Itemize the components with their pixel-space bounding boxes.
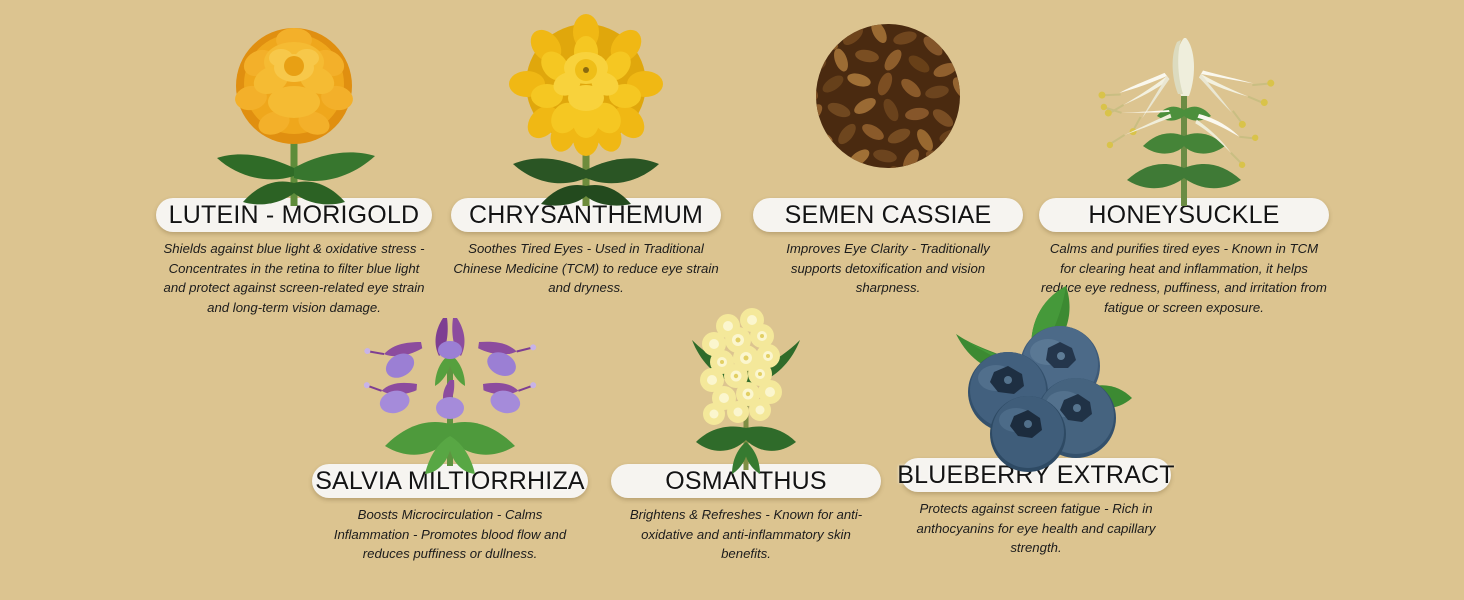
ingredient-description: Soothes Tired Eyes - Used in Traditional…: [453, 239, 719, 298]
ingredient-card-semen-cassiae: SEMEN CASSIAE Improves Eye Clarity - Tra…: [752, 18, 1024, 298]
salvia-flower-icon: [355, 296, 545, 472]
osmanthus-flower-icon: [656, 310, 836, 472]
chrysanthemum-flower-icon: [491, 18, 681, 208]
ingredient-description: Brightens & Refreshes - Known for anti-o…: [617, 505, 875, 564]
ingredient-infographic: LUTEIN - MORIGOLD Shields against blue l…: [0, 0, 1464, 600]
blueberry-fruit-icon: [936, 282, 1136, 472]
ingredient-card-honeysuckle: HONEYSUCKLE Calms and purifies tired eye…: [1038, 18, 1330, 317]
ingredient-description: Boosts Microcirculation - Calms Inflamma…: [328, 505, 572, 564]
ingredient-card-lutein-morigold: LUTEIN - MORIGOLD Shields against blue l…: [155, 18, 433, 317]
ingredient-card-blueberry-extract: BLUEBERRY EXTRACT Protects against scree…: [900, 282, 1172, 558]
cassia-seeds-icon: [793, 18, 983, 208]
marigold-flower-icon: [199, 18, 389, 208]
ingredient-description: Protects against screen fatigue - Rich i…: [907, 499, 1165, 558]
ingredient-card-chrysanthemum: CHRYSANTHEMUM Soothes Tired Eyes - Used …: [450, 18, 722, 298]
ingredient-card-salvia-miltiorrhiza: SALVIA MILTIORRHIZA Boosts Microcirculat…: [312, 296, 588, 564]
honeysuckle-flower-icon: [1089, 18, 1279, 208]
ingredient-card-osmanthus: OSMANTHUS Brightens & Refreshes - Known …: [610, 310, 882, 564]
